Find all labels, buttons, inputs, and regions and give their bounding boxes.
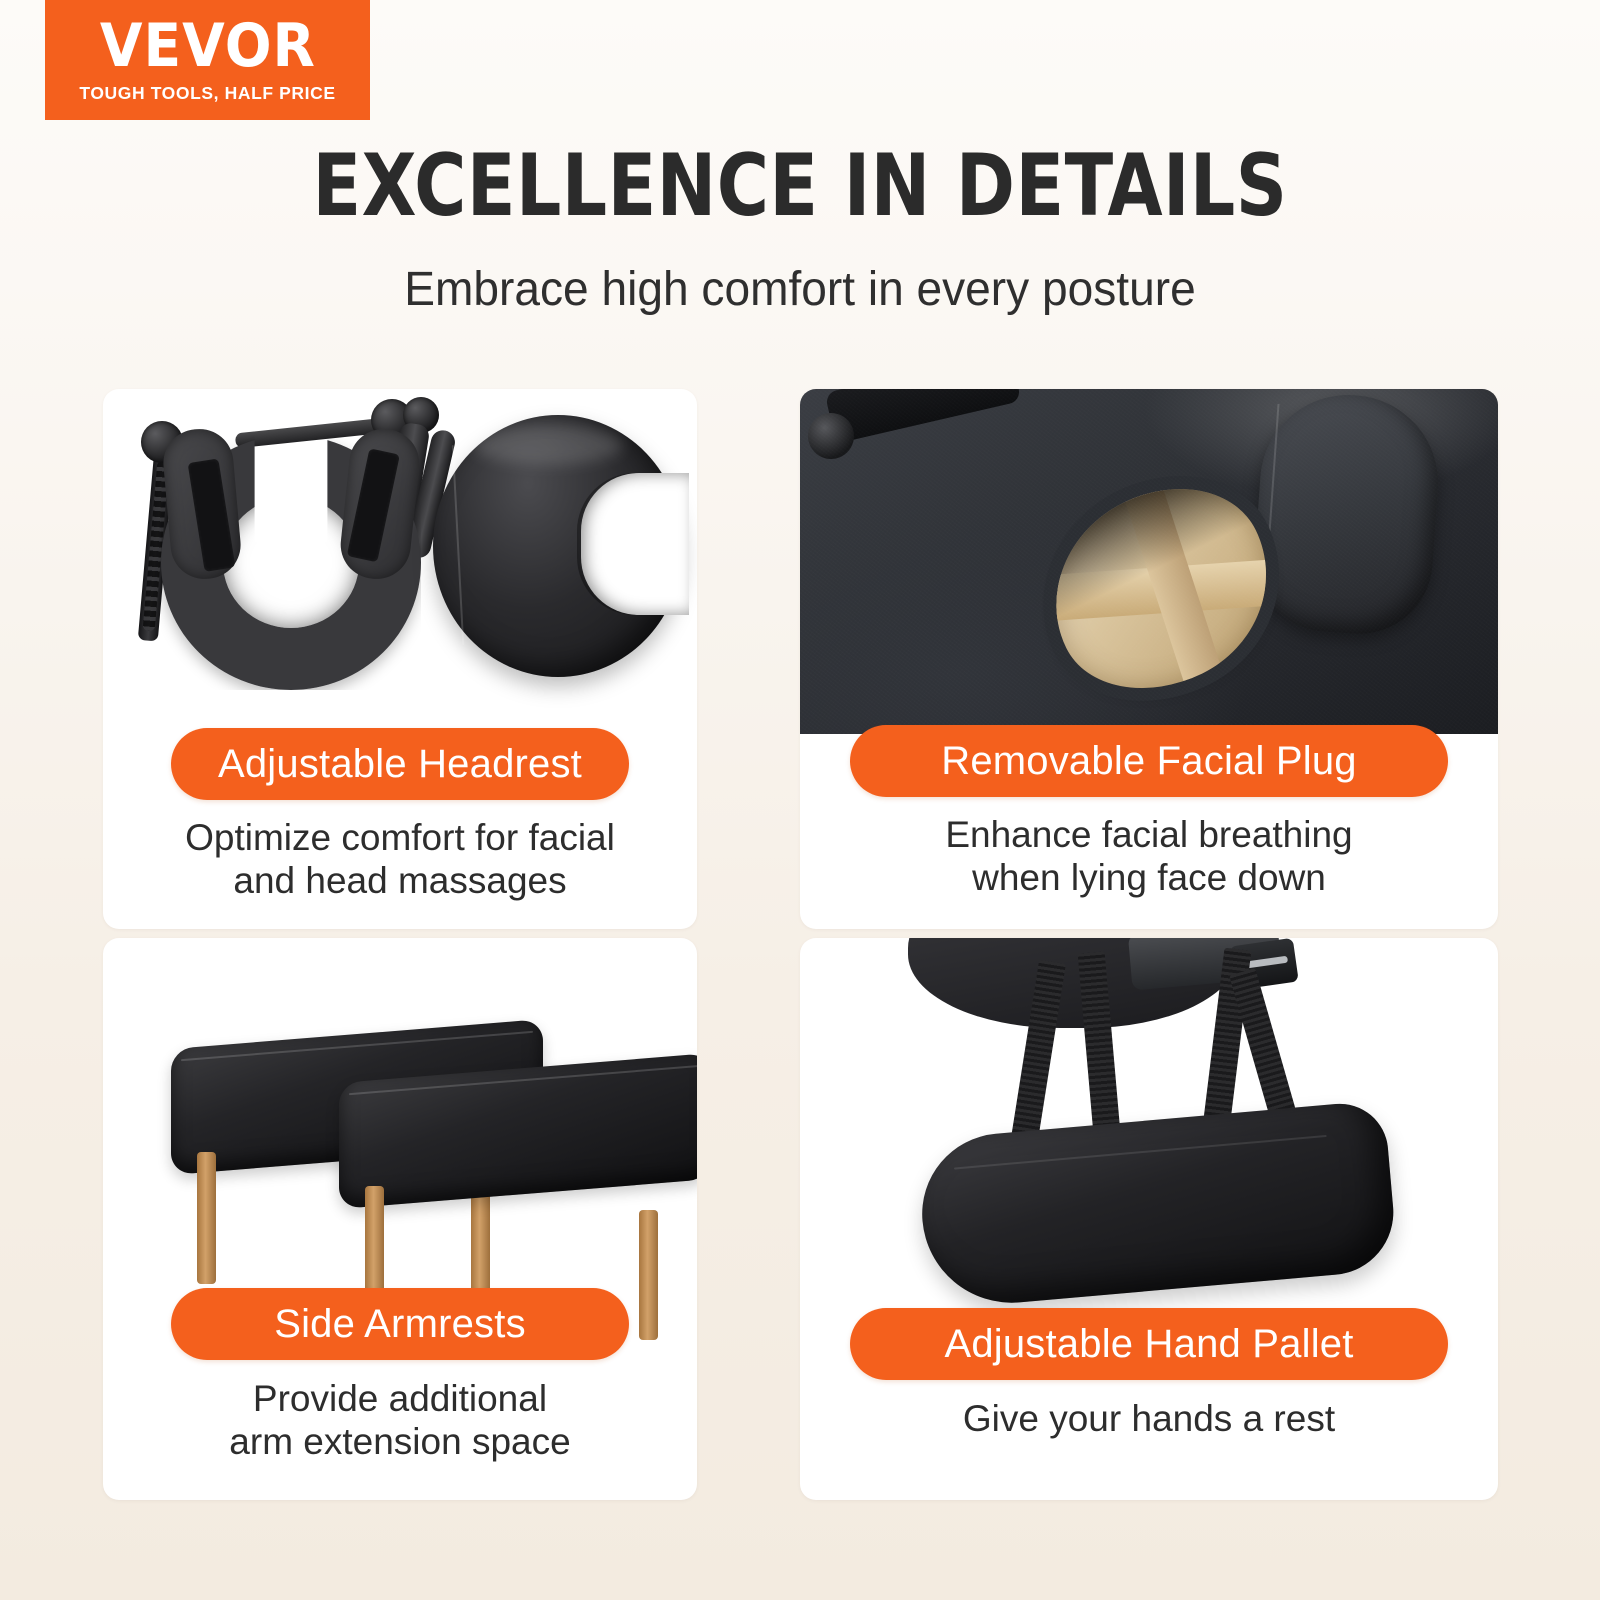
- hand-pallet-product-image: [800, 938, 1498, 1338]
- headrest-product-image: [103, 389, 697, 719]
- hand-pallet-board: [915, 1100, 1398, 1310]
- side-armrests-product-image: [103, 938, 697, 1288]
- velcro-strip-right: [347, 448, 400, 562]
- feature-card-side-armrests: Side Armrests Provide additional arm ext…: [103, 938, 697, 1500]
- description-adjustable-headrest: Optimize comfort for facial and head mas…: [127, 817, 673, 903]
- armrest-rear-leg-left: [197, 1152, 216, 1284]
- brand-tagline: TOUGH TOOLS, HALF PRICE: [79, 83, 335, 104]
- badge-removable-facial-plug: Removable Facial Plug: [850, 725, 1448, 797]
- page-title: EXCELLENCE IN DETAILS: [64, 143, 1536, 229]
- badge-adjustable-headrest: Adjustable Headrest: [171, 728, 629, 800]
- description-adjustable-hand-pallet: Give your hands a rest: [824, 1398, 1474, 1441]
- description-side-armrests: Provide additional arm extension space: [127, 1378, 673, 1464]
- pillow-highlight: [473, 425, 623, 465]
- brand-wordmark: VEVOR: [99, 16, 315, 76]
- armrest-front-leg-right: [639, 1210, 658, 1340]
- feature-card-adjustable-headrest: Adjustable Headrest Optimize comfort for…: [103, 389, 697, 929]
- feature-card-adjustable-hand-pallet: Adjustable Hand Pallet Give your hands a…: [800, 938, 1498, 1500]
- page-subtitle: Embrace high comfort in every posture: [32, 262, 1568, 317]
- badge-side-armrests: Side Armrests: [171, 1288, 629, 1360]
- badge-adjustable-hand-pallet: Adjustable Hand Pallet: [850, 1308, 1448, 1380]
- vevor-logo: VEVOR TOUGH TOOLS, HALF PRICE: [45, 0, 370, 120]
- cushion-lobe-left: [161, 426, 244, 582]
- velcro-strip-left: [188, 458, 236, 571]
- face-cushion-pillow: [433, 415, 683, 677]
- leather-grain-texture: [800, 389, 1498, 734]
- facial-plug-product-image: [800, 389, 1498, 734]
- description-removable-facial-plug: Enhance facial breathing when lying face…: [824, 814, 1474, 900]
- feature-card-removable-facial-plug: Removable Facial Plug Enhance facial bre…: [800, 389, 1498, 929]
- pillow-face-notch: [581, 473, 689, 615]
- headrest-u-cushion: [161, 435, 421, 690]
